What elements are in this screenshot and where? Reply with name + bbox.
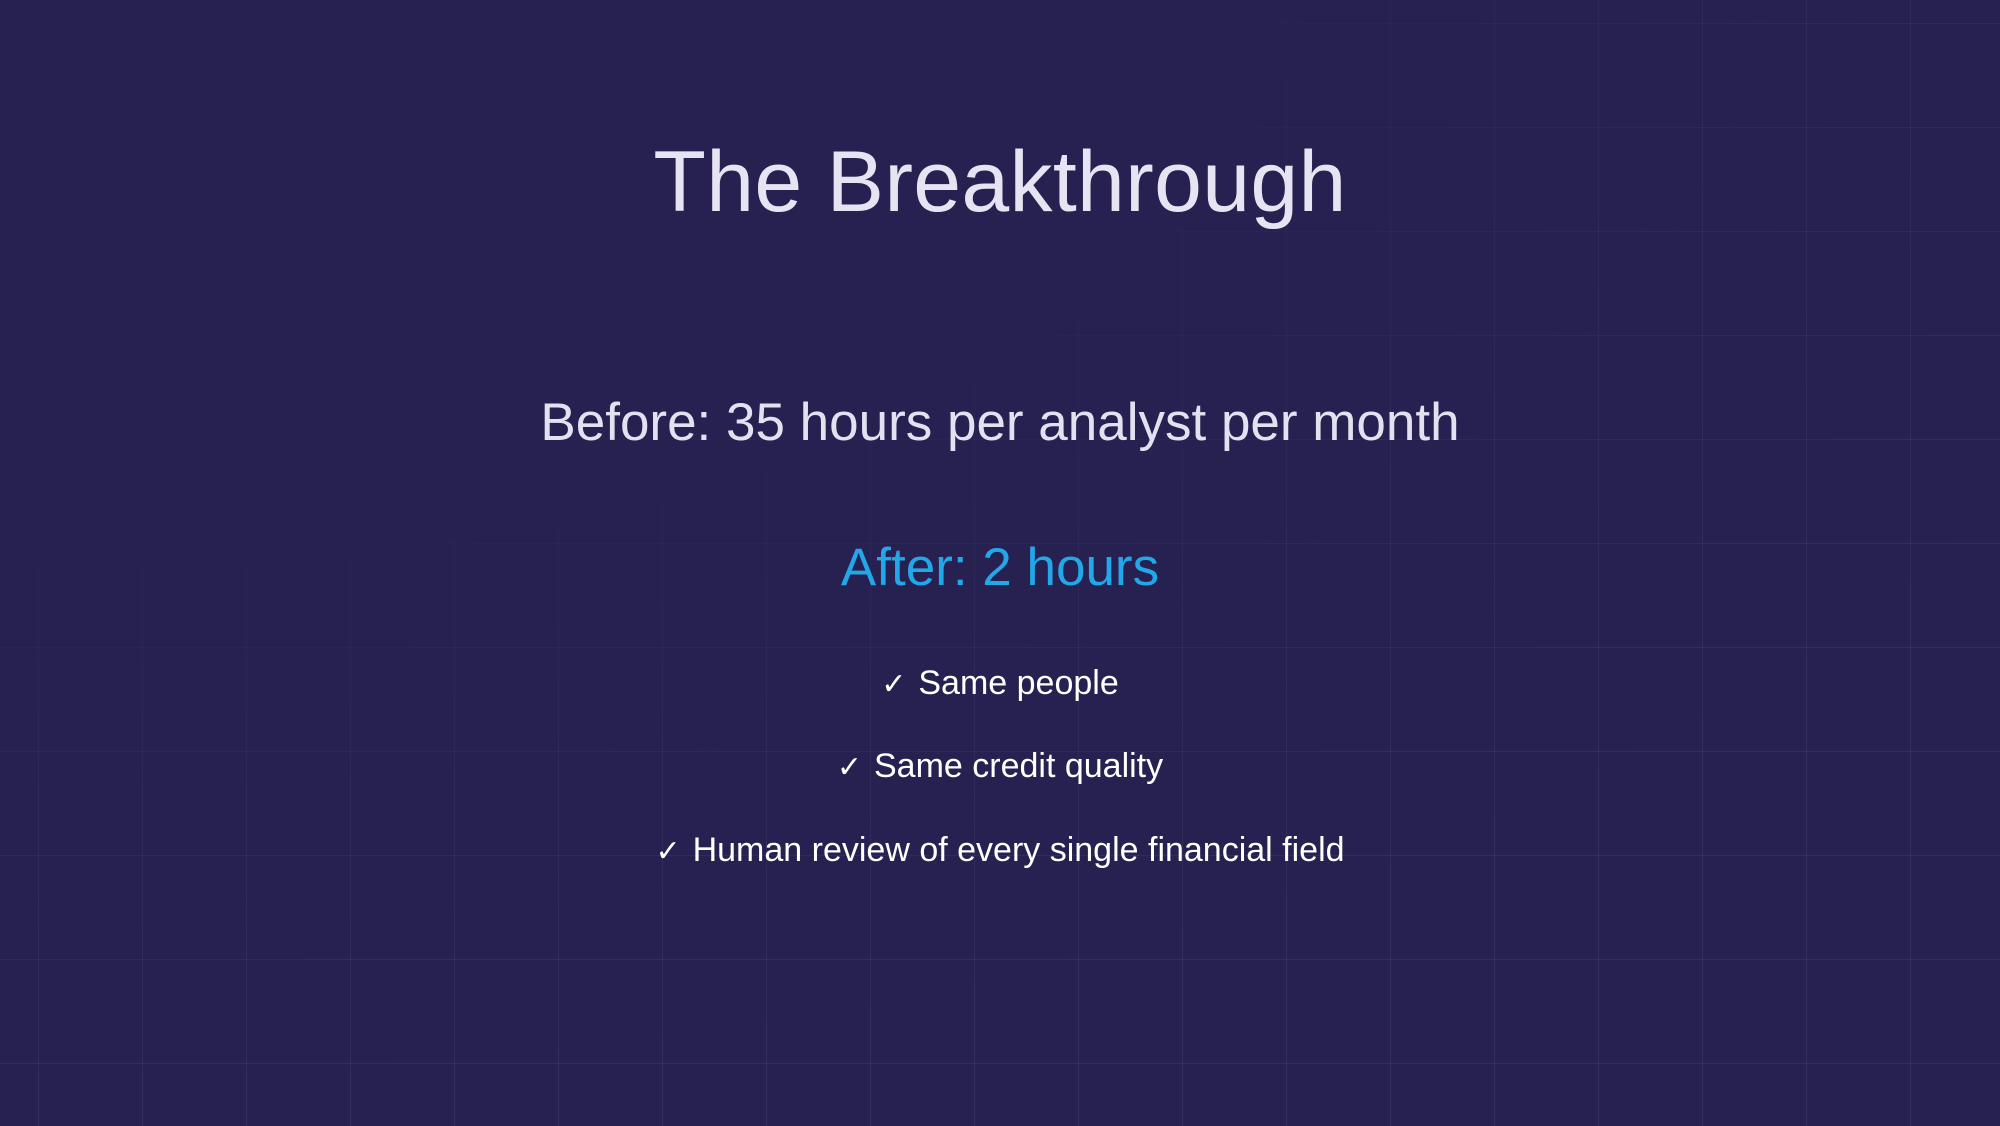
slide-title: The Breakthrough [653, 137, 1346, 227]
benefit-label: Same people [918, 664, 1118, 702]
list-item: ✓Human review of every single financial … [655, 832, 1344, 869]
check-icon: ✓ [837, 751, 862, 784]
list-item: ✓Same credit quality [837, 748, 1163, 785]
list-item: ✓Same people [881, 665, 1119, 702]
after-metric-text: After: 2 hours [841, 539, 1159, 597]
benefit-label: Same credit quality [874, 747, 1163, 785]
slide-content: The Breakthrough Before: 35 hours per an… [0, 0, 2000, 1126]
benefit-label: Human review of every single financial f… [693, 831, 1345, 869]
check-icon: ✓ [655, 835, 680, 868]
check-icon: ✓ [881, 668, 906, 701]
presentation-slide: The Breakthrough Before: 35 hours per an… [0, 0, 2000, 1126]
before-metric-text: Before: 35 hours per analyst per month [540, 394, 1459, 452]
benefits-list: ✓Same people ✓Same credit quality ✓Human… [655, 665, 1344, 869]
